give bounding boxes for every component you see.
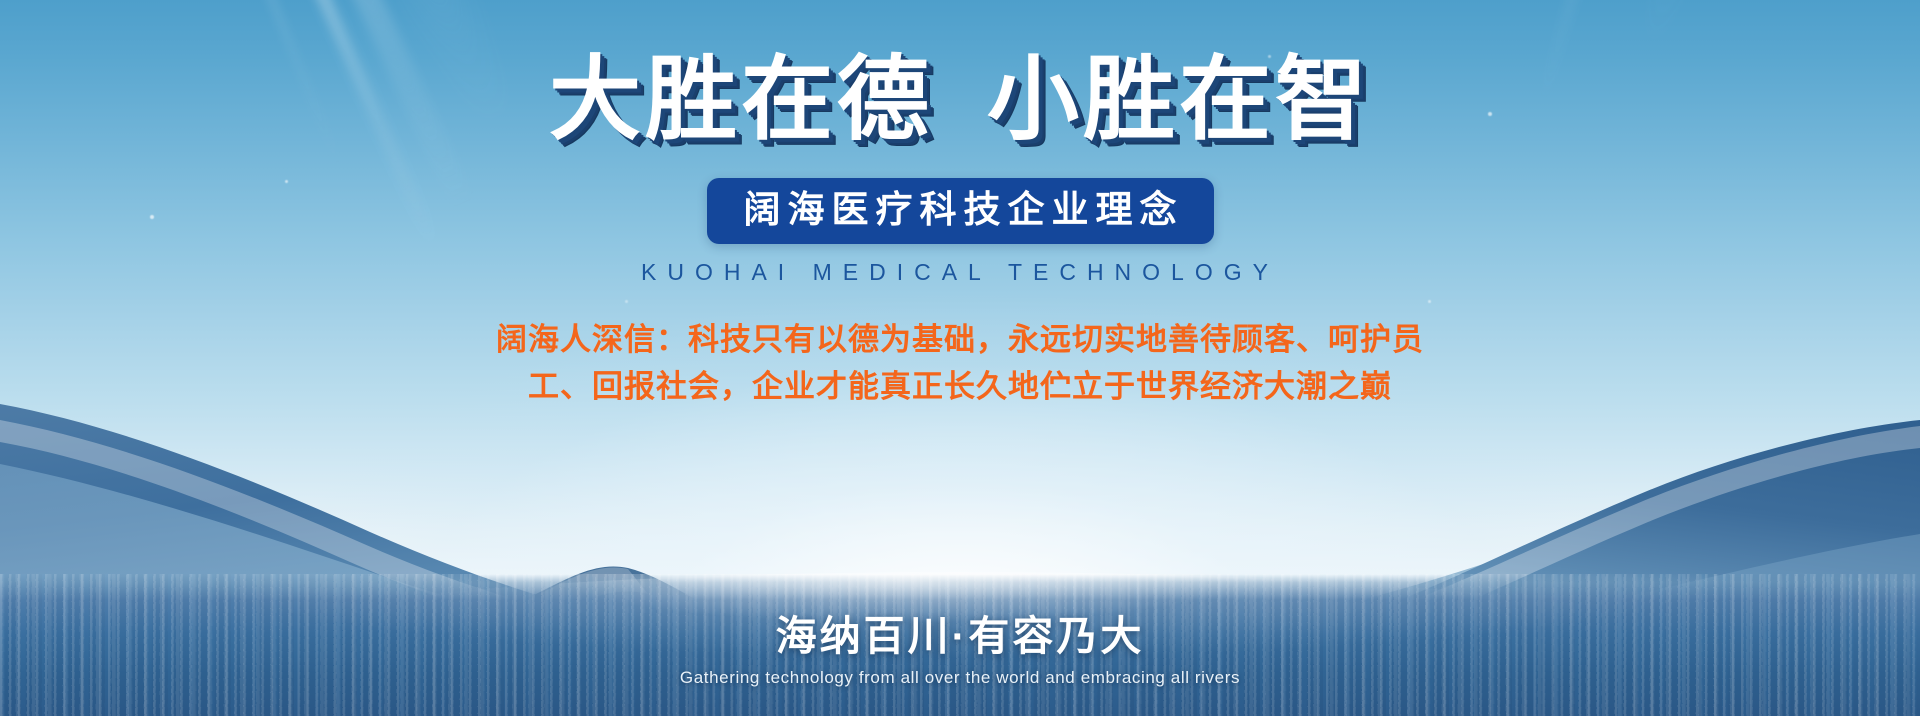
headline-part1: 大胜在德 <box>549 49 933 151</box>
corporate-philosophy-banner: 大胜在德小胜在智 阔海医疗科技企业理念 KUOHAI MEDICAL TECHN… <box>0 0 1920 716</box>
headline-part2: 小胜在智 <box>987 49 1371 151</box>
subtitle-english: KUOHAI MEDICAL TECHNOLOGY <box>641 259 1279 286</box>
philosophy-badge: 阔海医疗科技企业理念 <box>707 178 1214 245</box>
statement-line-1: 阔海人深信：科技只有以德为基础，永远切实地善待顾客、呵护员 <box>496 316 1424 363</box>
motto-english: Gathering technology from all over the w… <box>0 668 1920 688</box>
footer-motto: 海纳百川·有容乃大 Gathering technology from all … <box>0 612 1920 688</box>
philosophy-statement: 阔海人深信：科技只有以德为基础，永远切实地善待顾客、呵护员 工、回报社会，企业才… <box>496 316 1424 410</box>
statement-line-2: 工、回报社会，企业才能真正长久地伫立于世界经济大潮之巅 <box>496 363 1424 410</box>
banner-content: 大胜在德小胜在智 阔海医疗科技企业理念 KUOHAI MEDICAL TECHN… <box>0 0 1920 716</box>
motto-chinese: 海纳百川·有容乃大 <box>0 612 1920 661</box>
headline: 大胜在德小胜在智 <box>549 48 1371 154</box>
